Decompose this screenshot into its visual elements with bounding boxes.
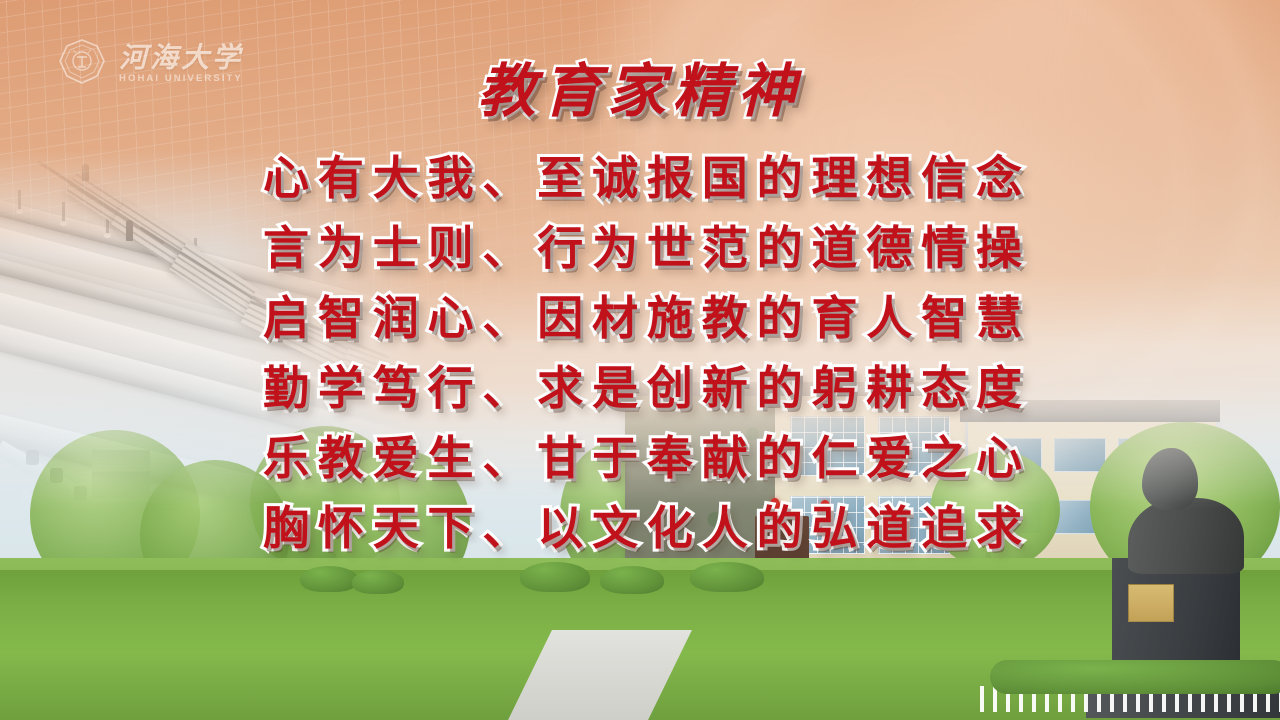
spirit-line: 勤学笃行、求是创新的躬耕态度 (263, 353, 1023, 423)
spirit-line: 心有大我、至诚报国的理想信念 (263, 143, 1023, 213)
poster-canvas: 河海大学 HOHAI UNIVERSITY 教育家精神 心有大我、至诚报国的理想… (0, 0, 1280, 720)
spirit-line: 启智润心、因材施教的育人智慧 (263, 283, 1023, 353)
spirit-line: 乐教爱生、甘于奉献的仁爱之心 (263, 423, 1023, 493)
poster-title: 教育家精神 (0, 62, 1280, 120)
spirit-lines: 心有大我、至诚报国的理想信念 言为士则、行为世范的道德情操 启智润心、因材施教的… (263, 143, 1023, 563)
spirit-line: 言为士则、行为世范的道德情操 (263, 213, 1023, 283)
spirit-line: 胸怀天下、以文化人的弘道追求 (263, 493, 1023, 563)
